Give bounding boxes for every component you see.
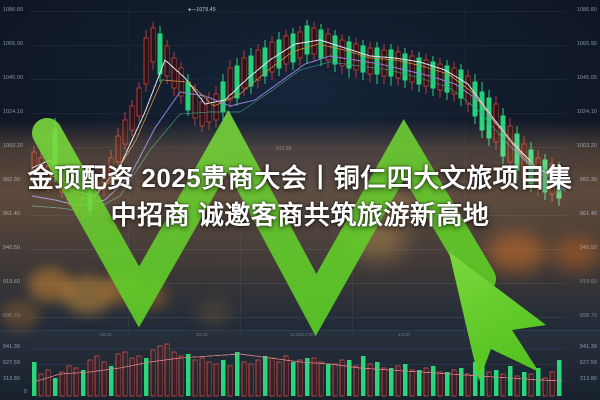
- title-line-1: 金顶配资 2025贵商大会丨铜仁四大文旅项目集: [28, 163, 573, 193]
- peak-annotation: ●—1079.45: [188, 7, 216, 13]
- page-title: 金顶配资 2025贵商大会丨铜仁四大文旅项目集 中招商 诚邀客商共筑旅游新高地: [0, 160, 600, 234]
- last-price-tag: 912.28: [276, 146, 291, 152]
- promo-chart-banner: 1086.80 1065.90 1045.00 1024.10 1003.20 …: [0, 0, 600, 400]
- title-line-2: 中招商 诚邀客商共筑旅游新高地: [16, 197, 584, 234]
